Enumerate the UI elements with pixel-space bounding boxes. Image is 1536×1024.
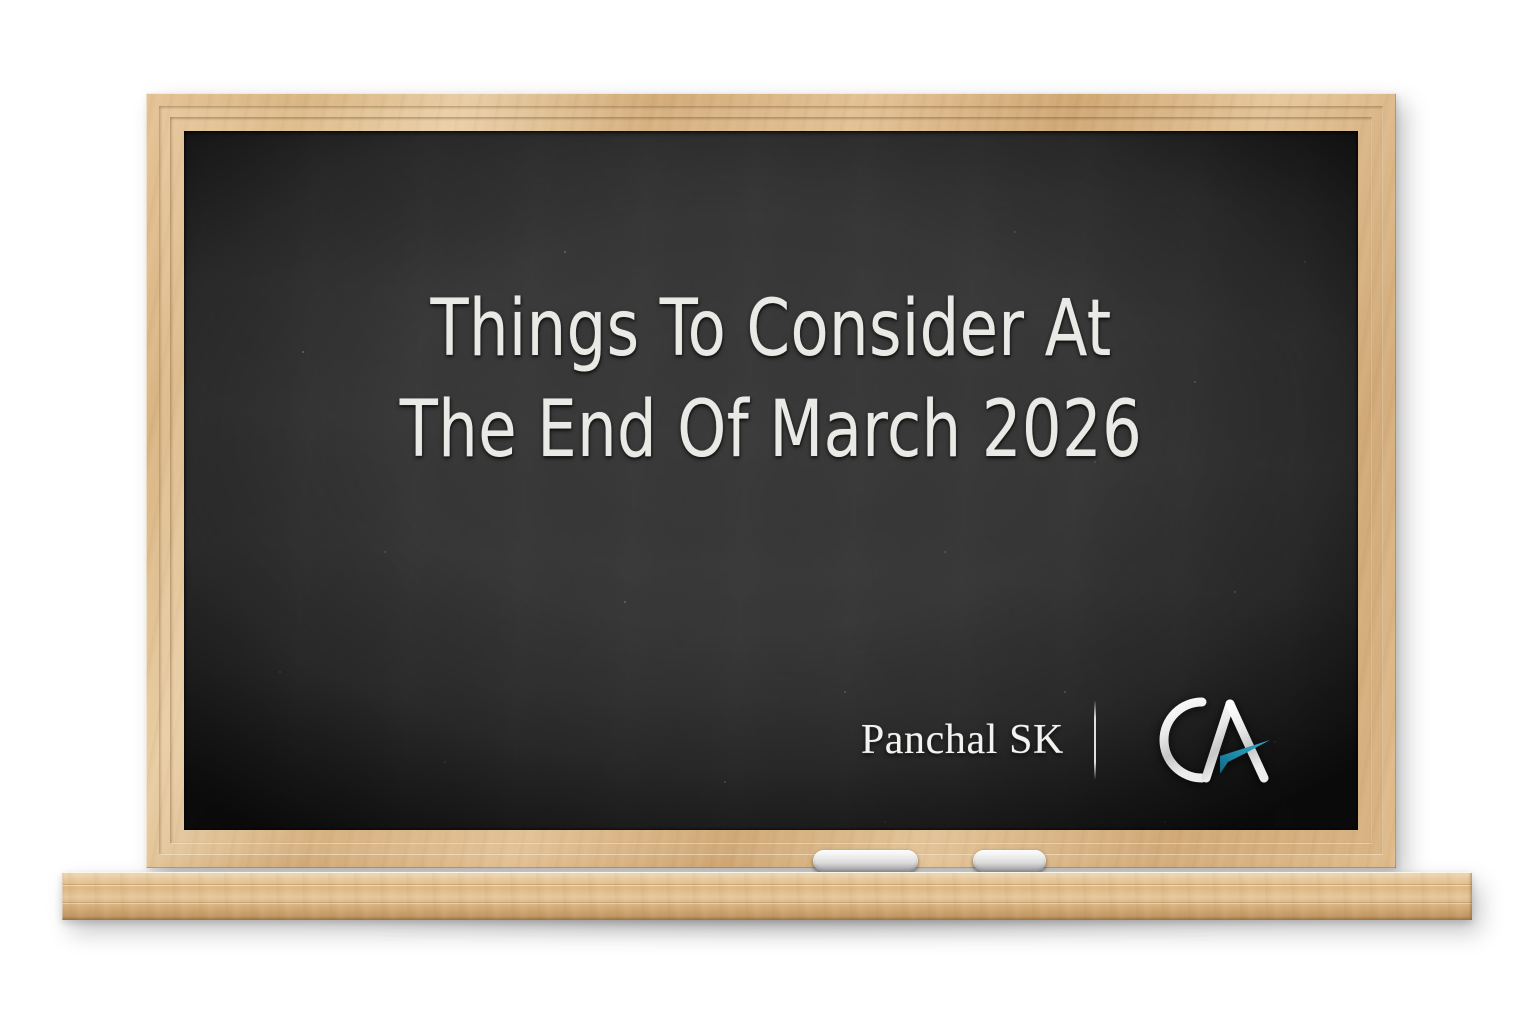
tray-edge-highlight (62, 872, 1472, 920)
chalk-tray (62, 872, 1472, 920)
page-title: Things To Consider At The End Of March 2… (301, 279, 1240, 482)
title-line-1: Things To Consider At (301, 279, 1240, 380)
title-line-2: The End Of March 2026 (301, 380, 1240, 481)
slide-canvas: Things To Consider At The End Of March 2… (0, 0, 1536, 1024)
tray-wood-grain (62, 872, 1472, 920)
author-name: Panchal SK (861, 716, 1094, 764)
branding-signature: Panchal SK (861, 692, 1274, 788)
chalk-stick-short[interactable] (973, 850, 1046, 872)
tray-moulding-lines (62, 872, 1472, 920)
divider-icon (1094, 701, 1096, 779)
ca-monogram-icon (1124, 692, 1274, 788)
chalk-stick-long[interactable] (813, 850, 918, 872)
